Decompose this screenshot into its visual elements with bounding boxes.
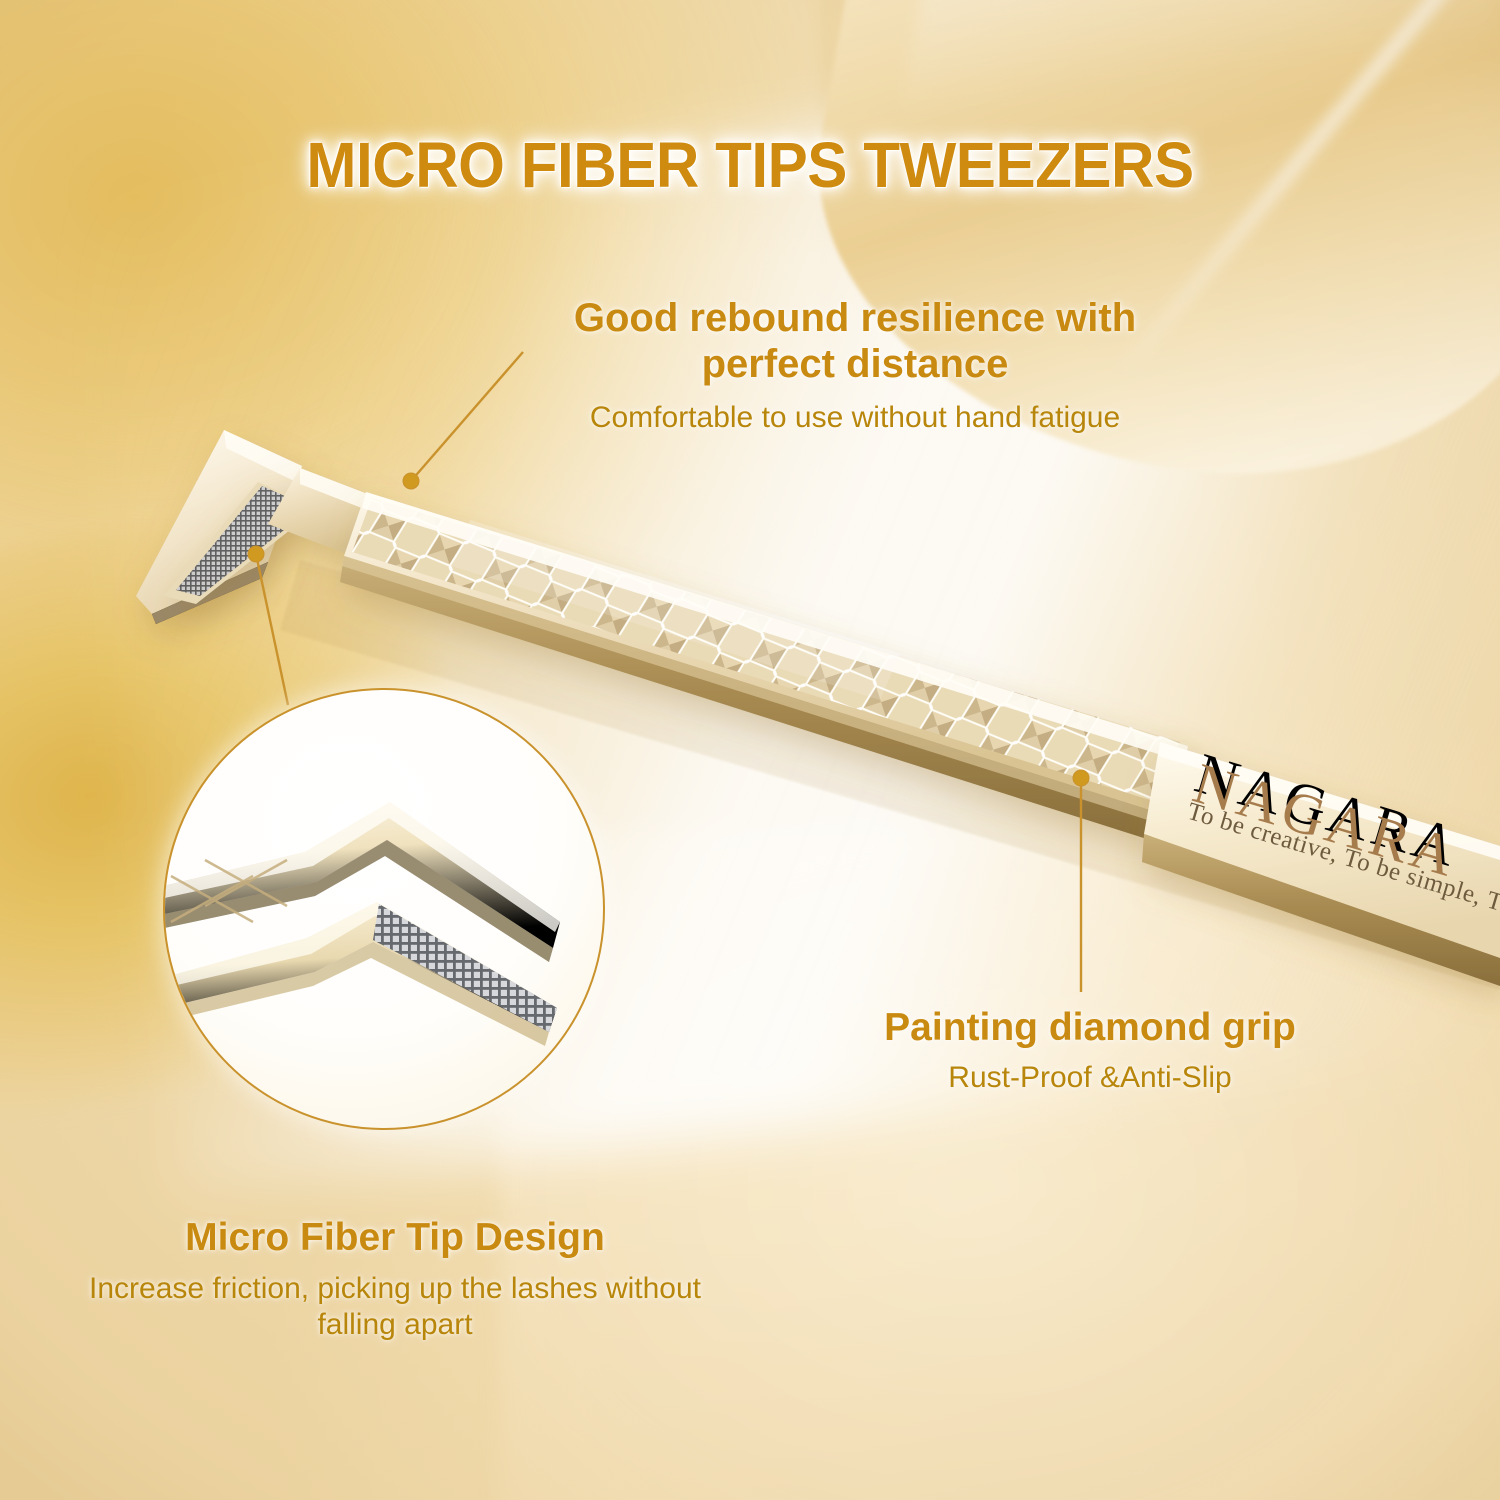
- tweezer-brand-plate: NAGARA NAGARA To be creative, To be simp…: [1142, 740, 1500, 986]
- leader-dot-rebound: [403, 473, 419, 489]
- callout-tip-heading: Micro Fiber Tip Design: [55, 1215, 735, 1260]
- callout-grip-subtext: Rust-Proof &Anti-Slip: [820, 1060, 1360, 1096]
- page-title: MICRO FIBER TIPS TWEEZERS: [45, 128, 1455, 202]
- callout-tip-subtext: Increase friction, picking up the lashes…: [55, 1271, 735, 1343]
- callout-rebound-heading: Good rebound resilience with perfect dis…: [505, 295, 1205, 388]
- magnified-tip-drawing: [165, 690, 605, 1130]
- callout-grip-heading: Painting diamond grip: [820, 1005, 1360, 1050]
- callout-rebound-subtext: Comfortable to use without hand fatigue: [505, 400, 1205, 436]
- product-infographic: NAGARA NAGARA To be creative, To be simp…: [0, 0, 1500, 1500]
- callout-micro-fiber-tip: Micro Fiber Tip Design Increase friction…: [55, 1215, 735, 1343]
- callout-rebound-resilience: Good rebound resilience with perfect dis…: [505, 295, 1205, 436]
- magnified-tip-inset: [163, 688, 605, 1130]
- callout-diamond-grip: Painting diamond grip Rust-Proof &Anti-S…: [820, 1005, 1360, 1096]
